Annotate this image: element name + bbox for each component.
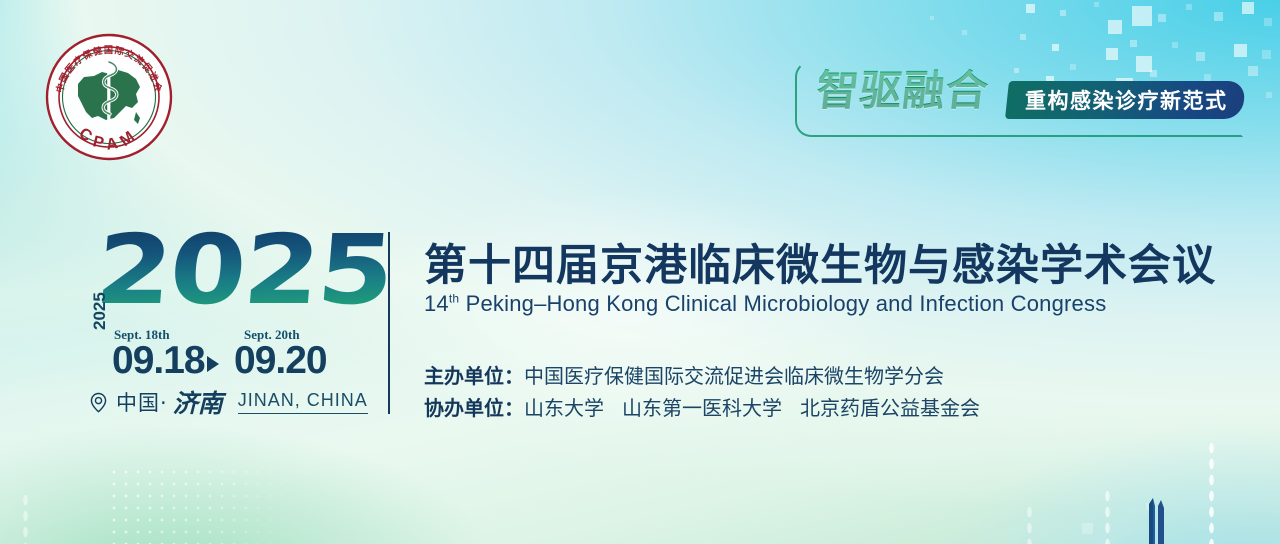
tagline-badge: 智驱融合 重构感染诊疗新范式 [795,57,1245,141]
range-arrow-icon [207,356,219,372]
tagline-headline: 智驱融合 [814,57,992,118]
vertical-divider [388,232,390,414]
year-vertical-label: 2025 [90,292,110,330]
host-organizer-label: 主办单位： [424,364,524,388]
tagline-pill: 重构感染诊疗新范式 [1005,81,1245,119]
location-city: 济南 [173,384,223,420]
subtitle-rest: Peking–Hong Kong Clinical Microbiology a… [459,291,1106,316]
cohost-organizer-value-3: 北京药盾公益基金会 [800,396,980,420]
location-row: 中国· 济南 JINAN, CHINA [88,384,368,420]
date-range: Sept. 18th 09.18 Sept. 20th 09.20 [112,327,382,385]
page-subtitle: 14th Peking–Hong Kong Clinical Microbiol… [424,291,1106,317]
twin-tower-skyline-icon [1136,488,1176,544]
location-english: JINAN, CHINA [238,390,368,414]
host-organizer-value: 中国医疗保健国际交流促进会临床微生物学分会 [524,364,944,388]
subtitle-ordinal: th [449,292,459,306]
subtitle-number: 14 [424,291,449,316]
start-date-value: 09.18 [112,339,205,383]
year-display: 2025 [92,222,395,318]
location-pin-icon [88,392,109,413]
conference-banner: 中国医疗保健国际交流促进会 CPAM 智驱融合 重构感染诊疗新范式 2025 2… [0,0,1280,544]
cpam-logo: 中国医疗保健国际交流促进会 CPAM [44,32,174,162]
cohost-organizer-value-2: 山东第一医科大学 [622,396,782,420]
location-country: 中国· [116,387,168,417]
host-organizer-line: 主办单位：中国医疗保健国际交流促进会临床微生物学分会 [424,360,944,389]
tagline-subline: 重构感染诊疗新范式 [1025,85,1228,115]
cohost-organizer-value-1: 山东大学 [524,396,604,420]
end-date-value: 09.20 [234,339,327,383]
dot-grid-decoration [108,466,308,544]
cohost-organizer-line: 协办单位：山东大学山东第一医科大学北京药盾公益基金会 [424,392,980,421]
page-title: 第十四届京港临床微生物与感染学术会议 [424,231,1216,293]
cohost-organizer-label: 协办单位： [424,396,524,420]
